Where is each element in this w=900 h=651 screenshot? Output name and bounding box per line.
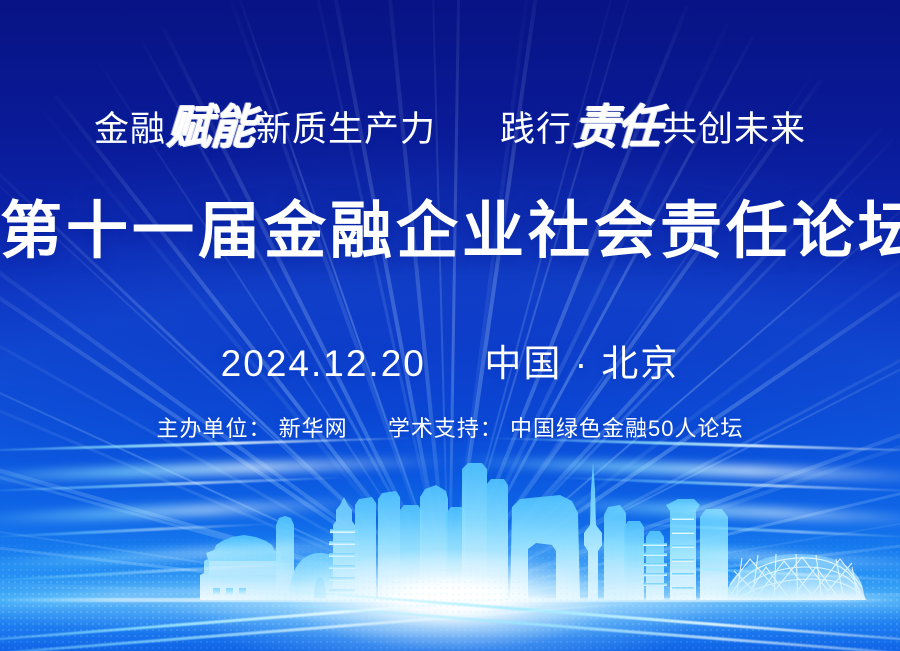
event-date: 2024.12.20	[221, 343, 426, 384]
page-title: 第十一届金融企业社会责任论坛	[0, 180, 900, 270]
organizer-credits: 主办单位： 新华网 学术支持： 中国绿色金融50人论坛	[0, 411, 900, 443]
tagline-2-suffix: 共创未来	[662, 101, 806, 152]
organizer-label: 主办单位：	[156, 416, 271, 441]
tagline-2-prefix: 践行	[500, 101, 572, 152]
event-location: 中国 · 北京	[484, 343, 679, 384]
poster-content: 金融 赋能 新质生产力 践行 责任 共创未来 第十一届金融企业社会责任论坛 20…	[0, 0, 900, 651]
tagline-1-suffix: 新质生产力	[256, 101, 436, 152]
forum-poster: 金融 赋能 新质生产力 践行 责任 共创未来 第十一届金融企业社会责任论坛 20…	[0, 0, 900, 651]
event-date-location: 2024.12.20 中国 · 北京	[0, 333, 900, 387]
tagline-2: 践行 责任 共创未来	[500, 92, 806, 154]
tagline-1-prefix: 金融	[94, 101, 166, 152]
academic-value: 中国绿色金融50人论坛	[510, 416, 743, 441]
tagline-1-brush: 赋能	[162, 89, 260, 157]
organizer-value: 新华网	[279, 416, 348, 441]
tagline-row: 金融 赋能 新质生产力 践行 责任 共创未来	[0, 92, 900, 154]
tagline-2-brush: 责任	[568, 89, 666, 157]
tagline-1: 金融 赋能 新质生产力	[94, 92, 436, 154]
academic-label: 学术支持：	[388, 416, 503, 441]
